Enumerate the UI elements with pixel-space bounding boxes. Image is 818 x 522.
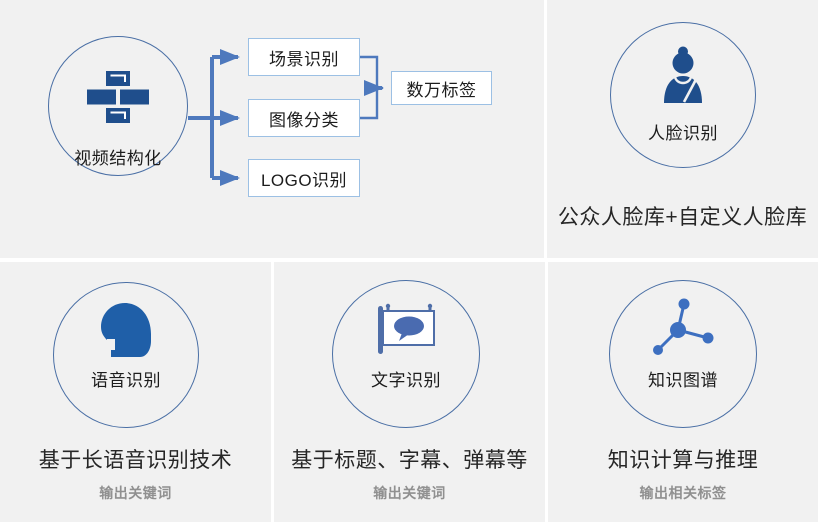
badge-label-video: 视频结构化 <box>48 144 188 169</box>
infographic-root: 视频结构化 场景识别 图像分类 LOGO识别 数万标签 <box>0 0 818 522</box>
badge-label-kg: 知识图谱 <box>609 366 757 391</box>
card-video-structuring: 视频结构化 场景识别 图像分类 LOGO识别 数万标签 <box>0 0 544 258</box>
caption-face-recognition: 公众人脸库+自定义人脸库 <box>547 201 818 231</box>
subcaption-speech-recognition: 输出关键词 <box>0 483 271 503</box>
badge-label-text: 文字识别 <box>332 366 480 391</box>
card-speech-recognition: 语音识别 基于长语音识别技术 输出关键词 <box>0 262 271 522</box>
card-face-recognition: 人脸识别 公众人脸库+自定义人脸库 <box>547 0 818 258</box>
video-structuring-icon <box>48 70 188 124</box>
caption-text-recognition: 基于标题、字幕、弹幕等 <box>274 444 545 474</box>
subcaption-knowledge-graph: 输出相关标签 <box>548 483 818 503</box>
card-knowledge-graph: 知识图谱 知识计算与推理 输出相关标签 <box>548 262 818 522</box>
banner-speech-bubble-icon <box>332 302 480 358</box>
card-text-recognition: 文字识别 基于标题、字幕、弹幕等 输出关键词 <box>274 262 545 522</box>
person-face-icon <box>610 46 756 104</box>
caption-knowledge-graph: 知识计算与推理 <box>548 444 818 474</box>
flow-box-tens-of-thousands-tags[interactable]: 数万标签 <box>391 71 492 105</box>
knowledge-graph-nodes-icon <box>609 298 757 360</box>
flow-box-image-classification[interactable]: 图像分类 <box>248 99 360 137</box>
flow-box-logo-recognition[interactable]: LOGO识别 <box>248 159 360 197</box>
subcaption-text-recognition: 输出关键词 <box>274 483 545 503</box>
flow-box-scene-recognition[interactable]: 场景识别 <box>248 38 360 76</box>
badge-label-speech: 语音识别 <box>53 366 199 391</box>
head-profile-icon <box>53 300 199 360</box>
badge-label-face: 人脸识别 <box>610 119 756 144</box>
caption-speech-recognition: 基于长语音识别技术 <box>0 444 271 474</box>
